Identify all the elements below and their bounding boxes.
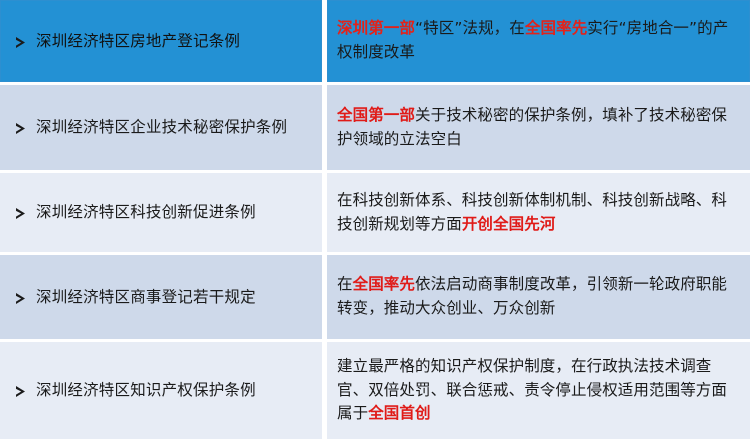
arrow-right-icon xyxy=(14,292,27,305)
body-text: “特区”法规，在 xyxy=(415,19,525,37)
regulation-description: 建立最严格的知识产权保护制度，在行政执法技术调查官、双倍处罚、联合惩戒、责令停止… xyxy=(337,355,738,426)
table-row: 深圳经济特区企业技术秘密保护条例全国第一部关于技术秘密的保护条例，填补了技术秘密… xyxy=(0,85,750,173)
regulation-name: 深圳经济特区知识产权保护条例 xyxy=(36,379,256,401)
regulation-row-trade-secret-description-cell: 全国第一部关于技术秘密的保护条例，填补了技术秘密保护领域的立法空白 xyxy=(327,85,750,170)
emphasis-text: 全国第一部 xyxy=(337,106,415,124)
bullet-line: 深圳经济特区知识产权保护条例 xyxy=(14,379,256,401)
arrow-right-icon xyxy=(14,385,27,398)
arrow-right-icon xyxy=(14,36,27,49)
regulation-row-real-estate-title-cell: 深圳经济特区房地产登记条例 xyxy=(0,0,322,82)
table-body: 深圳经济特区房地产登记条例深圳第一部“特区”法规，在全国率先实行“房地合一”的产… xyxy=(0,0,750,439)
regulation-name: 深圳经济特区商事登记若干规定 xyxy=(36,286,256,308)
regulation-row-sci-tech-innovation-title-cell: 深圳经济特区科技创新促进条例 xyxy=(0,173,322,252)
arrow-right-icon xyxy=(14,207,27,220)
regulation-description: 在全国率先依法启动商事制度改革，引领新一轮政府职能转变，推动大众创业、万众创新 xyxy=(337,273,738,320)
regulation-row-trade-secret-title-cell: 深圳经济特区企业技术秘密保护条例 xyxy=(0,85,322,170)
bullet-line: 深圳经济特区科技创新促进条例 xyxy=(14,201,256,223)
regulation-row-sci-tech-innovation-description-cell: 在科技创新体系、科技创新体制机制、科技创新战略、科技创新规划等方面开创全国先河 xyxy=(327,173,750,252)
regulation-row-commercial-registration-title-cell: 深圳经济特区商事登记若干规定 xyxy=(0,255,322,339)
bullet-line: 深圳经济特区房地产登记条例 xyxy=(14,30,240,52)
regulation-row-real-estate-description-cell: 深圳第一部“特区”法规，在全国率先实行“房地合一”的产权制度改革 xyxy=(327,0,750,82)
regulation-row-commercial-registration-description-cell: 在全国率先依法启动商事制度改革，引领新一轮政府职能转变，推动大众创业、万众创新 xyxy=(327,255,750,339)
regulation-description: 在科技创新体系、科技创新体制机制、科技创新战略、科技创新规划等方面开创全国先河 xyxy=(337,189,738,236)
regulation-name: 深圳经济特区房地产登记条例 xyxy=(36,30,240,52)
regulation-name: 深圳经济特区科技创新促进条例 xyxy=(36,201,256,223)
table-row: 深圳经济特区商事登记若干规定在全国率先依法启动商事制度改革，引领新一轮政府职能转… xyxy=(0,255,750,342)
bullet-line: 深圳经济特区商事登记若干规定 xyxy=(14,286,256,308)
regulation-description: 深圳第一部“特区”法规，在全国率先实行“房地合一”的产权制度改革 xyxy=(337,17,738,64)
emphasis-text: 全国首创 xyxy=(368,404,430,422)
table-row: 深圳经济特区知识产权保护条例建立最严格的知识产权保护制度，在行政执法技术调查官、… xyxy=(0,342,750,439)
regulation-row-intellectual-property-title-cell: 深圳经济特区知识产权保护条例 xyxy=(0,342,322,439)
regulation-description: 全国第一部关于技术秘密的保护条例，填补了技术秘密保护领域的立法空白 xyxy=(337,104,738,151)
emphasis-text: 开创全国先河 xyxy=(462,215,556,233)
emphasis-text: 全国率先 xyxy=(353,275,415,293)
regulations-comparison-table: 深圳经济特区房地产登记条例深圳第一部“特区”法规，在全国率先实行“房地合一”的产… xyxy=(0,0,750,439)
regulation-row-intellectual-property-description-cell: 建立最严格的知识产权保护制度，在行政执法技术调查官、双倍处罚、联合惩戒、责令停止… xyxy=(327,342,750,439)
arrow-right-icon xyxy=(14,122,27,135)
bullet-line: 深圳经济特区企业技术秘密保护条例 xyxy=(14,116,287,138)
regulation-name: 深圳经济特区企业技术秘密保护条例 xyxy=(36,116,287,138)
table-row: 深圳经济特区房地产登记条例深圳第一部“特区”法规，在全国率先实行“房地合一”的产… xyxy=(0,0,750,85)
emphasis-text: 全国率先 xyxy=(525,19,587,37)
body-text: 在 xyxy=(337,275,353,293)
table-row: 深圳经济特区科技创新促进条例在科技创新体系、科技创新体制机制、科技创新战略、科技… xyxy=(0,173,750,255)
emphasis-text: 深圳第一部 xyxy=(337,19,415,37)
